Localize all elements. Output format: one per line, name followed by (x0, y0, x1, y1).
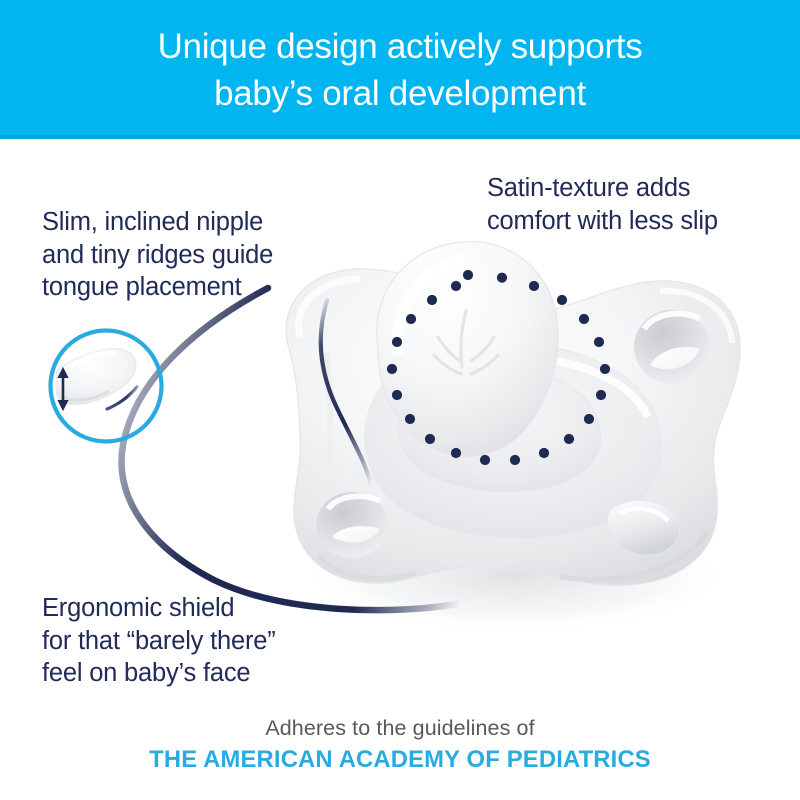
callout-satin-line-1: Satin-texture adds (487, 172, 718, 205)
footer-adheres-text: Adheres to the guidelines of (0, 714, 800, 742)
footer-endorsement: Adheres to the guidelines of THE AMERICA… (0, 714, 800, 775)
callout-shield-line-3: feel on baby’s face (42, 657, 276, 690)
callout-nipple-line-1: Slim, inclined nipple (42, 206, 273, 239)
callout-slim-inclined-nipple: Slim, inclined nipple and tiny ridges gu… (42, 206, 273, 304)
callout-satin-texture: Satin-texture adds comfort with less sli… (487, 172, 718, 237)
callout-satin-line-2: comfort with less slip (487, 205, 718, 238)
pacifier-illustration (230, 225, 770, 635)
vent-hole-right (634, 310, 710, 384)
footer-organization-name: THE AMERICAN ACADEMY OF PEDIATRICS (12, 744, 788, 775)
callout-shield-line-1: Ergonomic shield (42, 592, 276, 625)
callout-nipple-line-3: tongue placement (42, 271, 273, 304)
nipple-profile-inset (47, 327, 165, 445)
callout-nipple-line-2: and tiny ridges guide (42, 239, 273, 272)
vent-hole-left (316, 492, 388, 558)
header-headline-line-1: Unique design actively supports (158, 23, 643, 70)
header-headline-line-2: baby’s oral development (214, 70, 586, 117)
callout-shield-line-2: for that “barely there” (42, 625, 276, 658)
product-infographic: Unique design actively supports baby’s o… (0, 0, 800, 800)
header-banner: Unique design actively supports baby’s o… (0, 0, 800, 139)
callout-ergonomic-shield: Ergonomic shield for that “barely there”… (42, 592, 276, 690)
